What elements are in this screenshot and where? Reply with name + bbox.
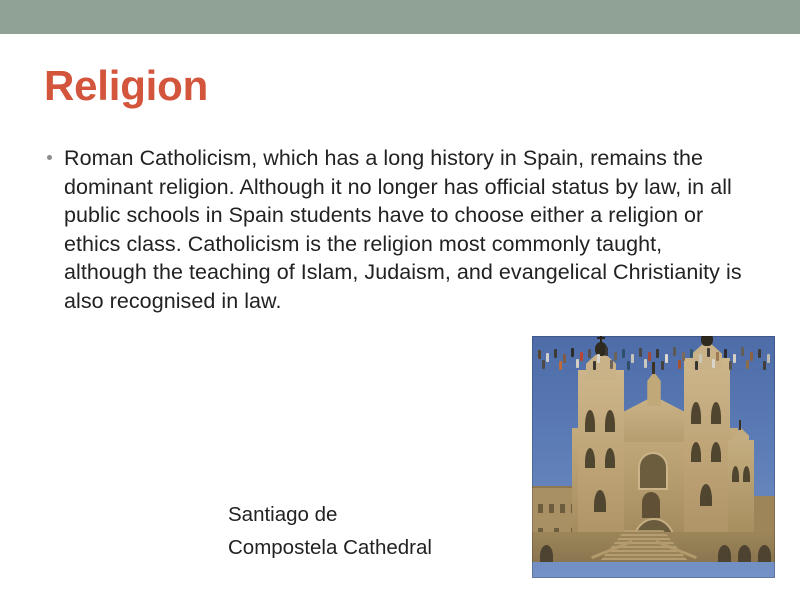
far-right-tower bbox=[728, 440, 754, 532]
slide: Religion Roman Catholicism, which has a … bbox=[0, 0, 800, 600]
cathedral-photo-artwork bbox=[532, 336, 775, 578]
image-caption-line-2: Compostela Cathedral bbox=[228, 531, 432, 564]
central-spire-finial-icon bbox=[652, 362, 655, 374]
page-title: Religion bbox=[44, 64, 208, 108]
bullet-dot-icon bbox=[47, 155, 52, 160]
cathedral-photo bbox=[532, 336, 775, 578]
image-caption-line-1: Santiago de bbox=[228, 498, 432, 531]
left-tower-cross-bar-icon bbox=[597, 337, 605, 339]
right-bell-tower bbox=[684, 358, 730, 558]
far-right-tower-finial-icon bbox=[739, 420, 741, 430]
body-content: Roman Catholicism, which has a long hist… bbox=[44, 144, 748, 316]
right-tower-dome bbox=[701, 336, 713, 346]
central-rose-window bbox=[638, 452, 668, 490]
bullet-text: Roman Catholicism, which has a long hist… bbox=[64, 146, 742, 313]
list-item: Roman Catholicism, which has a long hist… bbox=[44, 144, 748, 316]
image-caption: Santiago de Compostela Cathedral bbox=[228, 498, 432, 564]
central-upper-window bbox=[642, 492, 660, 518]
top-banner bbox=[0, 0, 800, 34]
